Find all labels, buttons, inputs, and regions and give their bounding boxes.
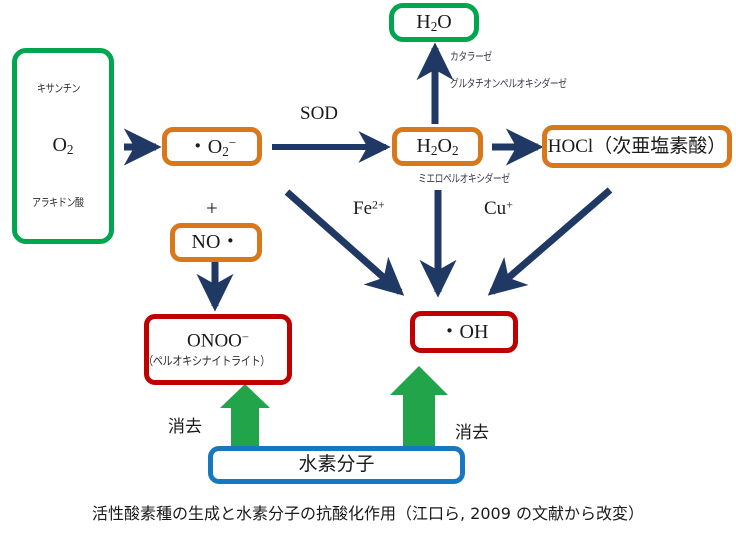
label-scavenge-right: 消去	[455, 418, 489, 443]
water-label: H2O	[416, 11, 452, 34]
nitric-oxide-label: NO・	[192, 231, 241, 254]
node-superoxide[interactable]: ・O2−	[162, 127, 262, 166]
arrow-hydrogen-to-hydroxyl	[390, 366, 448, 448]
arrow-hydrogen-to-peroxynitrite	[220, 384, 270, 448]
hydrogen-molecule-label: 水素分子	[298, 454, 374, 476]
node-hydrogen-peroxide[interactable]: H2O2	[392, 127, 483, 166]
node-water[interactable]: H2O	[389, 3, 479, 42]
hydroxyl-radical-label: ・OH	[440, 321, 489, 344]
label-myeloperoxidase: ミエロペルオキシダーゼ	[418, 170, 510, 186]
source-label-o2: O2	[52, 134, 73, 157]
label-iron-ion: Fe2+	[353, 198, 385, 220]
source-label-xanthine: キサンチン	[37, 83, 80, 96]
node-ros-source[interactable]: キサンチン O2 アラキドン酸	[12, 48, 114, 244]
figure-caption: 活性酸素種の生成と水素分子の抗酸化作用（江口ら, 2009 の文献から改変）	[0, 500, 736, 524]
hydrogen-peroxide-label: H2O2	[416, 135, 458, 158]
label-catalase: カタラーゼ	[450, 48, 492, 64]
superoxide-label: ・O2−	[188, 135, 236, 159]
plus-sign: +	[206, 196, 218, 221]
node-hydrogen-molecule[interactable]: 水素分子	[208, 446, 465, 484]
node-nitric-oxide[interactable]: NO・	[170, 223, 262, 262]
label-glutathione-peroxidase: グルタチオンペルオキシダーゼ	[450, 75, 566, 91]
node-hypochlorous-acid[interactable]: HOCl（次亜塩素酸）	[542, 125, 732, 168]
label-copper-ion: Cu+	[484, 198, 513, 220]
node-hydroxyl-radical[interactable]: ・OH	[410, 311, 518, 353]
hypochlorous-acid-label: HOCl（次亜塩素酸）	[548, 136, 726, 158]
diagram-canvas: キサンチン O2 アラキドン酸 ・O2− + NO・ H2O2 H2O HOCl…	[0, 0, 736, 534]
label-sod: SOD	[300, 103, 338, 125]
label-scavenge-left: 消去	[168, 412, 202, 437]
peroxynitrite-sublabel: （ペルオキシナイトライト）	[143, 355, 270, 369]
peroxynitrite-label: ONOO−	[187, 330, 249, 352]
source-label-arachidonic-acid: アラキドン酸	[32, 197, 84, 210]
node-peroxynitrite[interactable]: ONOO− （ペルオキシナイトライト）	[144, 314, 292, 385]
